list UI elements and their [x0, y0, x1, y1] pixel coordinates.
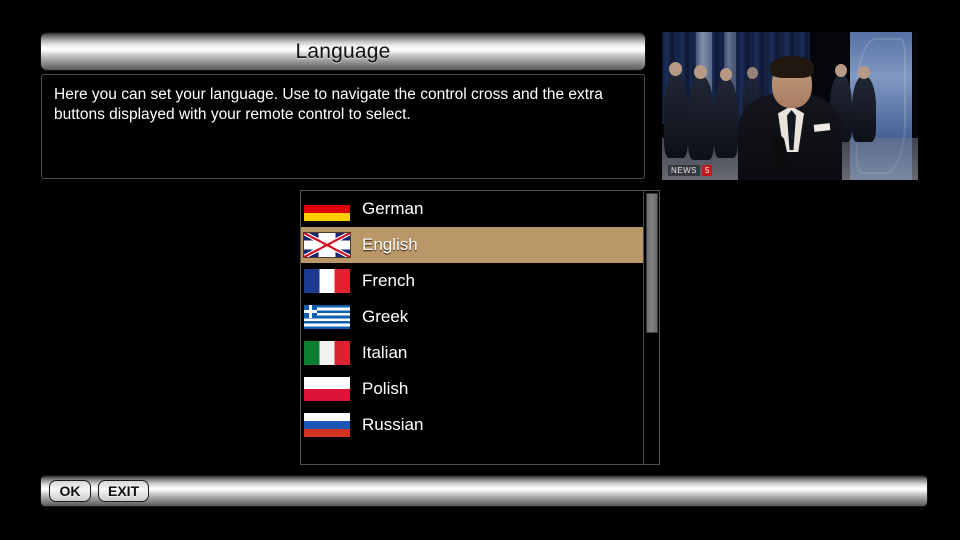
exit-button[interactable]: EXIT — [98, 480, 149, 502]
description-text: Here you can set your language. Use to n… — [54, 85, 632, 125]
description-panel: Here you can set your language. Use to n… — [41, 74, 645, 179]
crowd-figure — [688, 76, 714, 160]
list-item-label: German — [362, 199, 423, 219]
list-item-label: Polish — [362, 379, 408, 399]
footer-bar: OK EXIT — [41, 476, 927, 506]
list-item[interactable]: Russian — [301, 407, 643, 443]
crowd-figure — [858, 66, 870, 79]
video-preview[interactable]: NEWS 5 — [662, 32, 918, 180]
list-item[interactable]: Greek — [301, 299, 643, 335]
flag-germany-icon — [304, 197, 350, 221]
crowd-figure — [747, 67, 758, 79]
list-item[interactable]: German — [301, 191, 643, 227]
scrollbar[interactable] — [643, 191, 659, 464]
flag-italy-icon — [304, 341, 350, 365]
flag-united-kingdom-icon — [304, 233, 350, 257]
list-item-label: English — [362, 235, 418, 255]
channel-bug-label: NEWS — [668, 165, 700, 176]
language-list-panel: German English French Greek Italian Poli — [300, 190, 660, 465]
flag-greece-icon — [304, 305, 350, 329]
crowd-figure — [664, 72, 688, 158]
list-item-label: Italian — [362, 343, 407, 363]
list-item-label: Russian — [362, 415, 423, 435]
language-list[interactable]: German English French Greek Italian Poli — [301, 191, 643, 443]
flag-russia-icon — [304, 413, 350, 437]
flag-poland-icon — [304, 377, 350, 401]
channel-bug: NEWS 5 — [668, 165, 712, 176]
tv-settings-screen: Language Here you can set your language.… — [0, 0, 960, 540]
list-item[interactable]: French — [301, 263, 643, 299]
list-item[interactable]: Polish — [301, 371, 643, 407]
ok-button[interactable]: OK — [49, 480, 91, 502]
reporter-hair — [770, 56, 814, 78]
list-item-label: French — [362, 271, 415, 291]
crowd-figure — [835, 64, 847, 77]
list-item[interactable]: English — [301, 227, 643, 263]
list-item-label: Greek — [362, 307, 408, 327]
crowd-figure — [669, 62, 682, 76]
scrollbar-thumb[interactable] — [646, 193, 658, 333]
page-title-bar: Language — [41, 33, 645, 70]
crowd-figure — [694, 65, 707, 79]
crowd-figure — [852, 76, 876, 142]
flag-france-icon — [304, 269, 350, 293]
list-item[interactable]: Italian — [301, 335, 643, 371]
crowd-figure — [714, 78, 738, 158]
page-title: Language — [295, 40, 390, 64]
crowd-figure — [720, 68, 732, 81]
channel-bug-accent: 5 — [702, 165, 712, 176]
